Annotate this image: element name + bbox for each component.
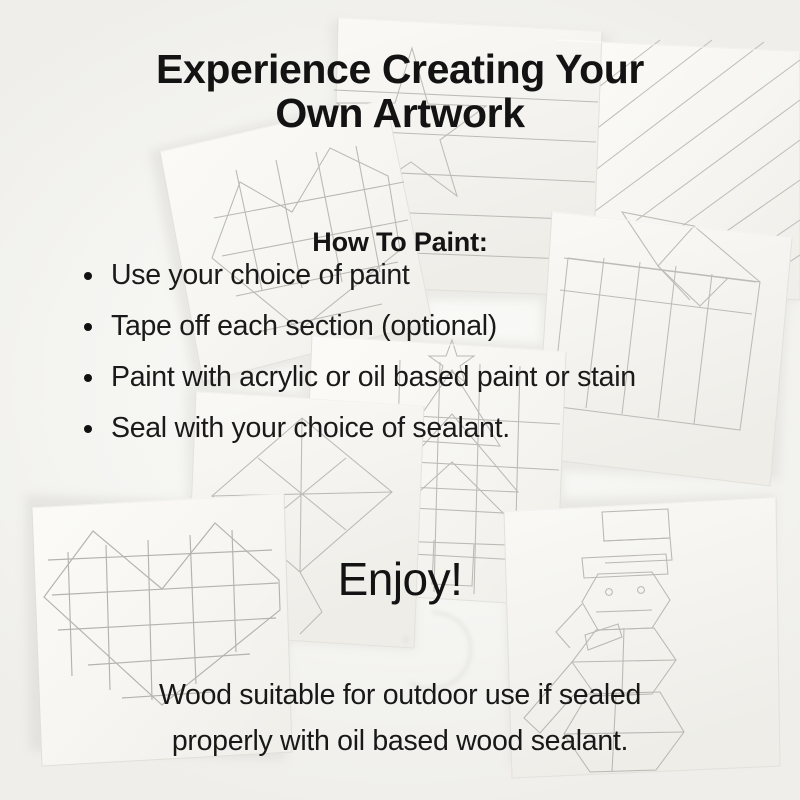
steps-list: Use your choice of paint Tape off each s… [78,250,762,454]
bullet-icon [84,374,92,382]
page-title: Experience Creating Your Own Artwork [0,48,800,136]
list-item-label: Paint with acrylic or oil based paint or… [111,361,636,393]
list-item: Use your choice of paint [78,250,762,301]
poster-canvas: Experience Creating Your Own Artwork How… [0,0,800,800]
list-item: Paint with acrylic or oil based paint or… [78,352,762,403]
text-overlay: Experience Creating Your Own Artwork How… [0,0,800,800]
enjoy-callout: Enjoy! [0,552,800,606]
footnote: Wood suitable for outdoor use if sealed … [40,672,760,764]
footnote-line-1: Wood suitable for outdoor use if sealed [159,679,641,711]
list-item: Seal with your choice of sealant. [78,403,762,454]
page-title-line-1: Experience Creating Your [156,46,644,92]
bullet-icon [84,323,92,331]
page-title-line-2: Own Artwork [275,90,524,136]
list-item: Tape off each section (optional) [78,301,762,352]
list-item-label: Tape off each section (optional) [111,310,497,342]
bullet-icon [84,272,92,280]
bullet-icon [84,425,92,433]
footnote-line-2: properly with oil based wood sealant. [172,725,628,757]
list-item-label: Seal with your choice of sealant. [111,412,510,444]
list-item-label: Use your choice of paint [111,259,410,291]
